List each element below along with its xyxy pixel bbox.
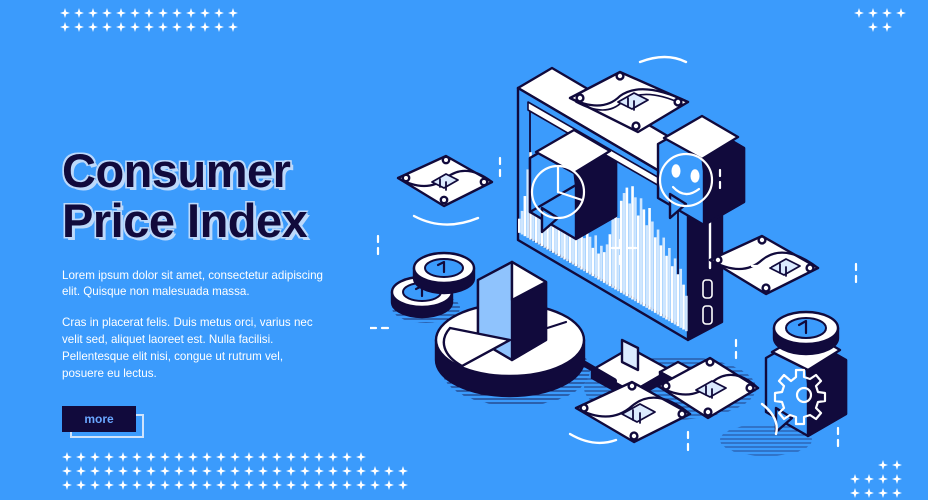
bar (606, 244, 609, 284)
decor-diamond (242, 464, 256, 478)
decor-diamond (214, 478, 228, 492)
decor-diamond (340, 478, 354, 492)
decor-diamond (890, 486, 904, 500)
bar (592, 248, 595, 276)
decor-diamond (200, 450, 214, 464)
decor-diamond (228, 478, 242, 492)
decor-dots-top-left (58, 6, 240, 34)
bar (643, 209, 646, 306)
bar (682, 285, 685, 330)
decor-diamond (170, 6, 184, 20)
decor-diamond (102, 450, 116, 464)
decor-diamond (128, 6, 142, 20)
bar (671, 266, 674, 323)
bar (657, 230, 660, 315)
bar (623, 193, 626, 294)
bar (594, 235, 597, 277)
decor-diamond (212, 20, 226, 34)
decor-diamond (72, 6, 86, 20)
decor-diamond (354, 450, 368, 464)
decor-diamond (862, 458, 876, 472)
decor-diamond (228, 464, 242, 478)
decor-diamond (226, 6, 240, 20)
bar (660, 245, 663, 316)
decor-diamond (270, 464, 284, 478)
decor-diamond (368, 464, 382, 478)
decor-diamond (60, 464, 74, 478)
decor-diamond (116, 478, 130, 492)
decor-diamond (270, 478, 284, 492)
bar (668, 248, 671, 321)
bar (526, 169, 529, 237)
decor-diamond (172, 478, 186, 492)
decor-diamond (284, 450, 298, 464)
decor-diamond (326, 478, 340, 492)
bar (631, 186, 634, 299)
bar (603, 252, 606, 283)
decor-diamond (200, 478, 214, 492)
decor-diamond (876, 486, 890, 500)
decor-diamond (214, 464, 228, 478)
hero-content: Consumer Price Index Lorem ipsum dolor s… (62, 146, 362, 438)
decor-diamond (130, 450, 144, 464)
decor-diamond (60, 450, 74, 464)
decor-diamond (256, 478, 270, 492)
decor-diamond (170, 20, 184, 34)
decor-diamond (144, 464, 158, 478)
decor-diamond (158, 464, 172, 478)
decor-diamond (894, 20, 908, 34)
decor-diamond (894, 6, 908, 20)
decor-diamond (58, 6, 72, 20)
decor-diamond (284, 464, 298, 478)
decor-diamond (396, 478, 410, 492)
bar (597, 254, 600, 280)
decor-diamond (242, 478, 256, 492)
more-button[interactable]: more (62, 406, 136, 432)
hero-banner: Consumer Price Index Lorem ipsum dolor s… (0, 0, 928, 500)
decor-diamond (144, 478, 158, 492)
bar (637, 216, 640, 303)
decor-diamond (184, 20, 198, 34)
coin-right (774, 312, 838, 354)
decor-diamond (242, 450, 256, 464)
decor-diamond (184, 6, 198, 20)
decor-diamond (198, 6, 212, 20)
decor-diamond (130, 478, 144, 492)
decor-diamond (86, 20, 100, 34)
decor-diamond (74, 450, 88, 464)
decor-diamond (228, 450, 242, 464)
decor-diamond (186, 464, 200, 478)
decor-diamond (102, 478, 116, 492)
decor-dots-top-right (852, 6, 908, 34)
decor-diamond (198, 20, 212, 34)
decor-diamond (876, 458, 890, 472)
bar (677, 274, 680, 326)
decor-diamond (186, 478, 200, 492)
decor-diamond (88, 464, 102, 478)
decor-diamond (848, 472, 862, 486)
cta-wrapper: more (62, 406, 146, 438)
decor-dots-bottom-right (848, 458, 904, 500)
decor-diamond (60, 478, 74, 492)
decor-diamond (102, 464, 116, 478)
bar (617, 218, 620, 291)
decor-diamond (880, 20, 894, 34)
decor-diamond (298, 450, 312, 464)
bar (685, 296, 688, 331)
bar (634, 197, 637, 301)
decor-diamond (890, 458, 904, 472)
decor-diamond (862, 472, 876, 486)
decor-diamond (354, 478, 368, 492)
decor-diamond (848, 458, 862, 472)
banknote-left (398, 156, 492, 225)
isometric-illustration (370, 40, 928, 460)
bar (589, 237, 592, 275)
decor-diamond (58, 20, 72, 34)
bar (662, 238, 665, 318)
decor-diamond (866, 6, 880, 20)
decor-diamond (312, 478, 326, 492)
decor-diamond (142, 6, 156, 20)
decor-diamond (172, 450, 186, 464)
decor-diamond (354, 464, 368, 478)
decor-diamond (214, 450, 228, 464)
decor-diamond (298, 478, 312, 492)
decor-diamond (890, 472, 904, 486)
bar (626, 188, 629, 297)
decor-diamond (144, 450, 158, 464)
decor-diamond (114, 20, 128, 34)
bar (679, 269, 682, 328)
decor-diamond (852, 6, 866, 20)
decor-diamond (114, 6, 128, 20)
decor-diamond (200, 464, 214, 478)
bar (654, 237, 657, 313)
bar (521, 211, 524, 235)
decor-diamond (880, 6, 894, 20)
decor-diamond (156, 6, 170, 20)
hero-paragraph-1: Lorem ipsum dolor sit amet, consectetur … (62, 268, 324, 302)
decor-diamond (382, 478, 396, 492)
bar (518, 219, 521, 233)
decor-diamond (256, 450, 270, 464)
decor-diamond (312, 450, 326, 464)
decor-diamond (158, 478, 172, 492)
coin-stack-left (392, 253, 474, 317)
decor-diamond (88, 450, 102, 464)
decor-diamond (172, 464, 186, 478)
bar (665, 256, 668, 320)
decor-diamond (74, 464, 88, 478)
decor-diamond (382, 464, 396, 478)
bar (674, 258, 677, 324)
decor-diamond (156, 20, 170, 34)
decor-diamond (862, 486, 876, 500)
bar (651, 221, 654, 311)
decor-diamond (100, 20, 114, 34)
bar (648, 208, 651, 309)
decor-diamond (226, 20, 240, 34)
page-title: Consumer Price Index (62, 146, 362, 246)
decor-diamond (100, 6, 114, 20)
decor-diamond (158, 450, 172, 464)
decor-diamond (284, 478, 298, 492)
decor-diamond (298, 464, 312, 478)
decor-diamond (116, 464, 130, 478)
bar (611, 219, 614, 287)
hero-paragraph-2: Cras in placerat felis. Duis metus orci,… (62, 315, 324, 382)
decor-diamond (312, 464, 326, 478)
decor-diamond (256, 464, 270, 478)
decor-diamond (326, 450, 340, 464)
decor-diamond (186, 450, 200, 464)
smiley-bubble (658, 116, 744, 225)
decor-diamond (876, 472, 890, 486)
bar (583, 238, 586, 271)
bar (524, 196, 527, 236)
bar (628, 203, 631, 297)
decor-diamond (410, 464, 424, 478)
decor-diamond (852, 20, 866, 34)
bar (640, 198, 643, 304)
decor-diamond (116, 450, 130, 464)
bar (600, 246, 603, 281)
decor-diamond (848, 486, 862, 500)
decor-diamond (340, 450, 354, 464)
decor-diamond (88, 478, 102, 492)
bar (609, 234, 612, 286)
decor-diamond (270, 450, 284, 464)
decor-diamond (396, 464, 410, 478)
decor-diamond (72, 20, 86, 34)
decor-diamond (74, 478, 88, 492)
decor-diamond (410, 478, 424, 492)
decor-diamond (368, 478, 382, 492)
decor-diamond (142, 20, 156, 34)
decor-diamond (130, 464, 144, 478)
decor-diamond (212, 6, 226, 20)
decor-diamond (340, 464, 354, 478)
decor-diamond (326, 464, 340, 478)
decor-diamond (86, 6, 100, 20)
decor-diamond (128, 20, 142, 34)
bar (645, 225, 648, 308)
decor-diamond (866, 20, 880, 34)
